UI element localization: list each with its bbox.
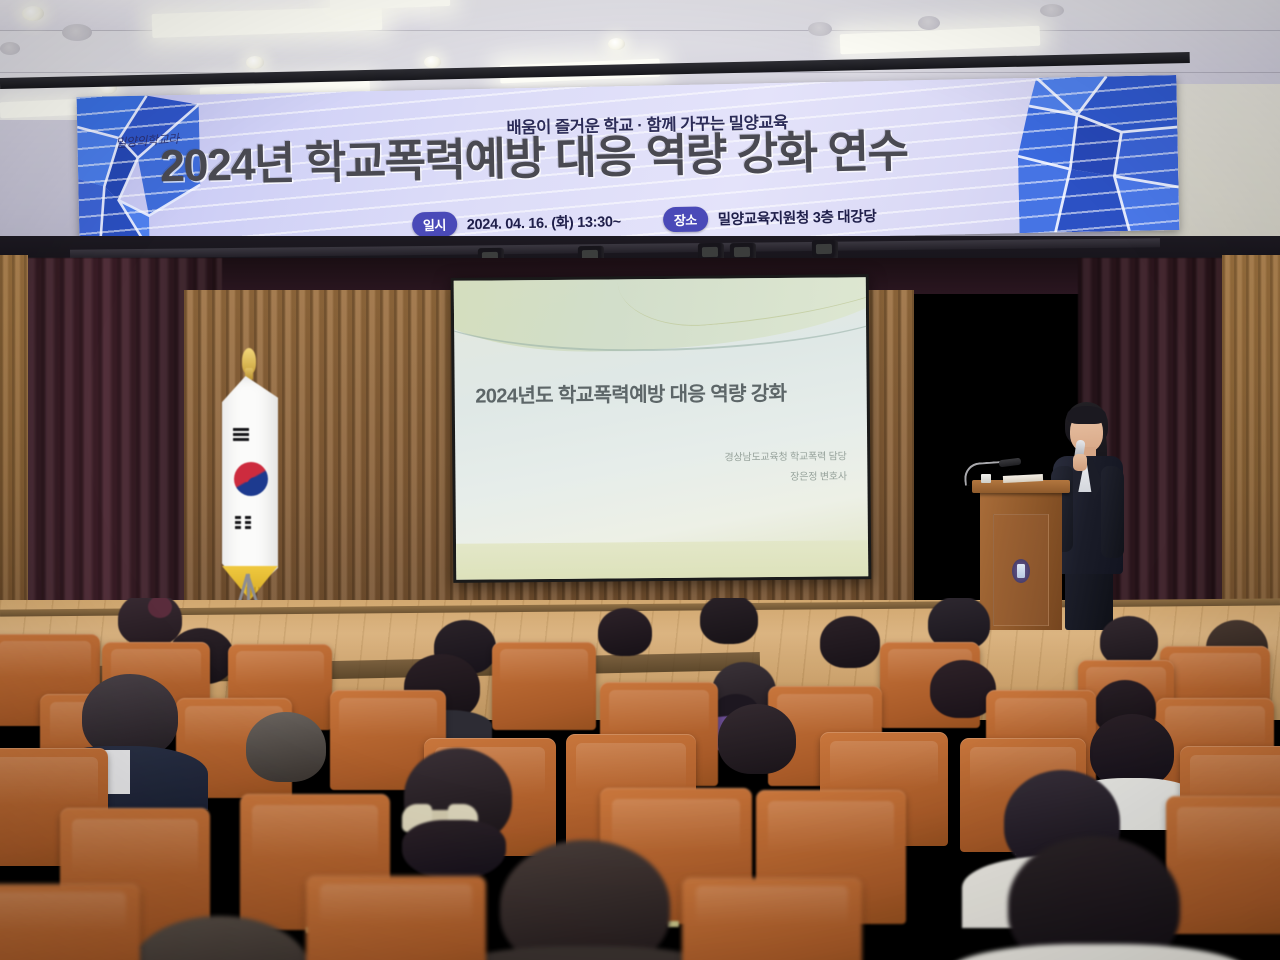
- auditorium-chair[interactable]: [306, 876, 486, 960]
- slide-footer-band: [456, 540, 868, 579]
- flag-finial: [242, 348, 256, 374]
- auditorium-chair[interactable]: [682, 878, 862, 960]
- side-wall-wood-right: [1222, 255, 1280, 645]
- podium-cup: [981, 474, 991, 483]
- speaker-hand: [1073, 454, 1087, 471]
- audience-shoulders: [948, 944, 1248, 960]
- speaker-hair-fringe: [1067, 406, 1106, 424]
- ceiling-downlight: [424, 56, 441, 68]
- banner-venue-label: 장소: [663, 206, 708, 232]
- side-wall-wood-left: [0, 255, 28, 640]
- slide-credit: 경상남도교육청 학교폭력 담당 장은정 변호사: [724, 448, 847, 488]
- trigram-gon: [235, 516, 251, 532]
- projection-screen: 2024년도 학교폭력예방 대응 역량 강화 경상남도교육청 학교폭력 담당 장…: [451, 274, 872, 583]
- auditorium-photo-scene: 밀양의학교라 배움이 즐거운 학교 · 함께 가꾸는 밀양교육 2024년 학교…: [0, 0, 1280, 960]
- banner-date-value: 2024. 04. 16. (화) 13:30~: [467, 210, 621, 234]
- ceiling-vent: [1040, 4, 1064, 17]
- ceiling-downlight: [22, 6, 44, 21]
- gooseneck-mic-head: [999, 458, 1022, 468]
- auditorium-chair[interactable]: [1166, 796, 1280, 934]
- audience-head: [1090, 714, 1174, 788]
- slide-title: 2024년도 학교폭력예방 대응 역량 강화: [475, 376, 850, 408]
- banner-date-label: 일시: [412, 211, 457, 237]
- audience-head: [500, 840, 670, 960]
- audience-head: [1008, 836, 1180, 960]
- trigram-geon: [233, 428, 249, 444]
- audience-seating-area: [0, 598, 1280, 960]
- slide-credit-person: 장은정 변호사: [725, 467, 847, 488]
- auditorium-chair[interactable]: [492, 642, 596, 730]
- ceiling-vent: [808, 22, 832, 36]
- podium-emblem-icon: [1012, 559, 1030, 583]
- slide-credit-org: 경상남도교육청 학교폭력 담당: [724, 448, 846, 469]
- audience-head: [718, 704, 796, 774]
- speaker-arm: [1101, 466, 1124, 558]
- ceiling-vent: [918, 16, 940, 30]
- audience-head: [1100, 616, 1158, 666]
- korean-flag-taegukgi: [196, 348, 314, 628]
- audience-head: [820, 616, 880, 668]
- audience-hair-tail: [402, 820, 506, 880]
- event-banner: 밀양의학교라 배움이 즐거운 학교 · 함께 가꾸는 밀양교육 2024년 학교…: [77, 75, 1180, 252]
- ceiling-downlight: [608, 38, 625, 50]
- audience-head: [598, 608, 652, 656]
- taeguk-symbol: [234, 462, 268, 496]
- ceiling-downlight: [246, 56, 264, 69]
- banner-venue-value: 밀양교육지원청 3층 대강당: [718, 205, 877, 229]
- ceiling-vent: [0, 42, 20, 55]
- flag-cloth: [222, 376, 278, 594]
- audience-head: [700, 598, 758, 644]
- ceiling-vent: [62, 24, 92, 41]
- audience-head: [246, 712, 326, 782]
- auditorium-chair[interactable]: [0, 884, 140, 960]
